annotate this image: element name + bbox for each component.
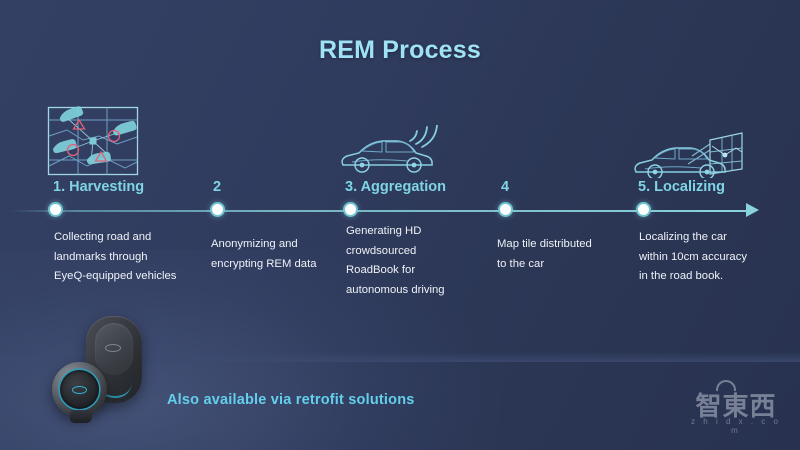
zhidx-watermark: 智東西 z h i d x . c o m (686, 376, 786, 432)
map-grid-with-cars-and-signs-icon (47, 106, 139, 181)
car-with-signal-waves-icon (338, 125, 442, 184)
page-title: REM Process (0, 36, 800, 65)
timeline-arrow-head (746, 203, 759, 217)
watermark-url: z h i d x . c o m (686, 417, 786, 435)
step-body-line: Map tile distributed (497, 235, 647, 255)
step-body-5: Localizing the car within 10cm accuracy … (639, 228, 789, 287)
step-body-line: crowdsourced (346, 242, 486, 262)
timeline-arrow-stem (700, 210, 752, 212)
step-body-3: Generating HD crowdsourced RoadBook for … (346, 222, 486, 300)
timeline-axis (0, 209, 790, 213)
step-body-line: Collecting road and (54, 228, 194, 248)
step-body-1: Collecting road and landmarks through Ey… (54, 228, 194, 287)
step-body-line: autonomous driving (346, 281, 486, 301)
slide-canvas: REM Process (0, 0, 800, 450)
step-body-line: landmarks through (54, 248, 194, 268)
timeline-dot-5[interactable] (636, 202, 651, 217)
step-body-line: Generating HD (346, 222, 486, 242)
car-with-map-tile-icon (632, 104, 746, 183)
timeline-dot-3[interactable] (343, 202, 358, 217)
step-body-line: Localizing the car (639, 228, 789, 248)
timeline-dot-4[interactable] (498, 202, 513, 217)
step-body-line: EyeQ-equipped vehicles (54, 267, 194, 287)
step-body-line: encrypting REM data (211, 255, 346, 275)
camera-lens-face (60, 370, 99, 409)
step-title-3: 3. Aggregation (345, 179, 446, 195)
step-body-line: to the car (497, 255, 647, 275)
step-title-2: 2 (213, 179, 221, 195)
step-body-2: Anonymizing and encrypting REM data (211, 235, 346, 274)
step-body-line: within 10cm accuracy (639, 248, 789, 268)
timeline-dot-1[interactable] (48, 202, 63, 217)
step-body-4: Map tile distributed to the car (497, 235, 647, 274)
mobileye-windshield-camera (52, 362, 107, 417)
retrofit-product-photo (52, 316, 172, 424)
retrofit-note: Also available via retrofit solutions (167, 392, 415, 408)
step-body-line: RoadBook for (346, 261, 486, 281)
step-body-line: Anonymizing and (211, 235, 346, 255)
timeline-dot-2[interactable] (210, 202, 225, 217)
mobileye-logo-icon (72, 386, 87, 394)
step-title-4: 4 (501, 179, 509, 195)
step-title-1: 1. Harvesting (53, 179, 144, 195)
step-title-5: 5. Localizing (638, 179, 725, 195)
camera-mount-foot (69, 410, 92, 423)
step-body-line: in the road book. (639, 267, 789, 287)
mobileye-logo-icon (105, 344, 121, 352)
